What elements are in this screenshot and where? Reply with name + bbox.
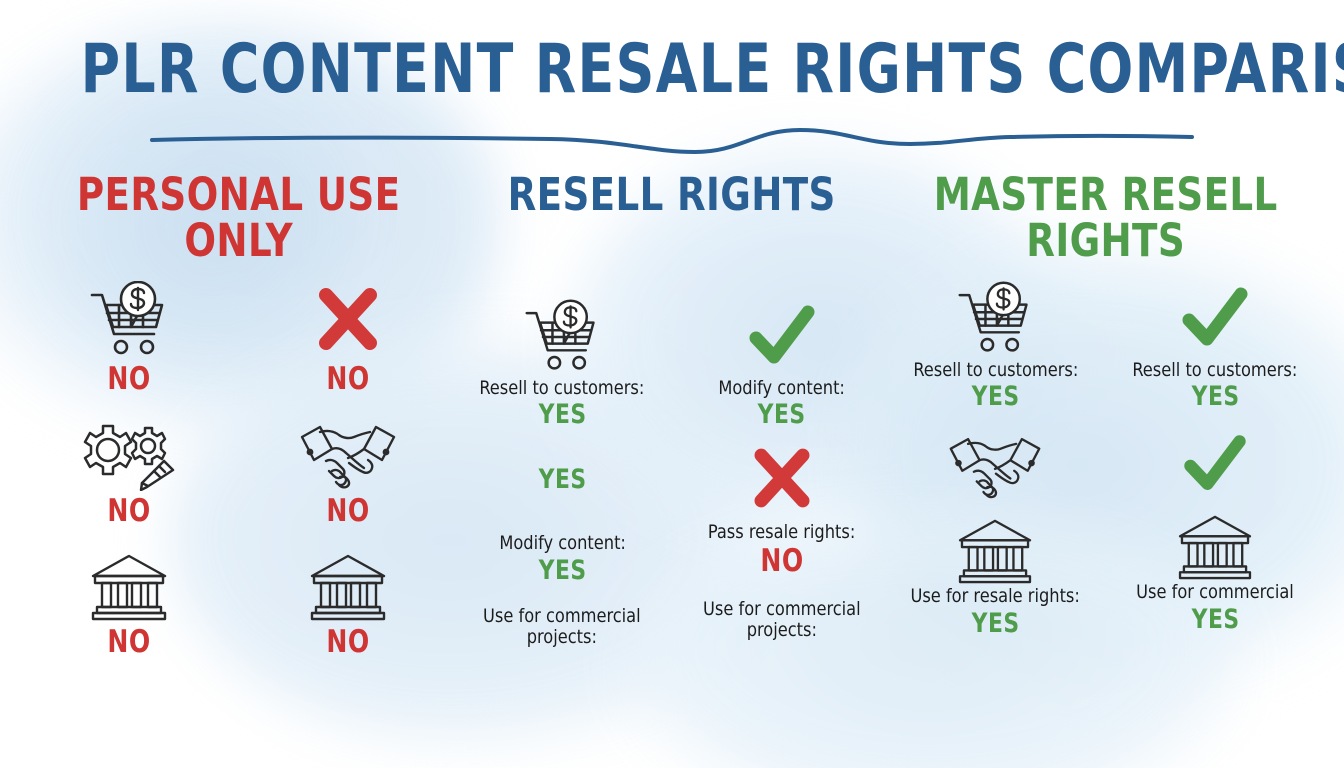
verdict-2-3: YES — [538, 555, 586, 586]
green-check-icon — [744, 294, 820, 378]
label-2-1: Resell to customers: — [476, 378, 649, 399]
cell-check-modify: Modify content: YES — [675, 294, 889, 430]
header: PLR CONTENT RESALE RIGHTS COMPARISON — [0, 0, 1344, 156]
verdict-2-6: NO — [760, 544, 803, 580]
column-2-right: Modify content: YES — [675, 276, 889, 648]
column-1-grid: NO — [22, 276, 455, 661]
comparison-columns: PERSONAL USE ONLY — [0, 172, 1344, 661]
column-2-left: Resell to customers: YES YES Modify cont… — [455, 276, 669, 648]
verdict-3-3: YES — [972, 608, 1020, 639]
verdict-2-2: YES — [538, 464, 586, 495]
verdict-3-1: YES — [972, 381, 1020, 412]
label-3-6: Use for commercial — [1133, 582, 1298, 603]
cell-bank-no: NO — [22, 547, 236, 661]
column-heading-master-resell-rights: MASTER RESELL RIGHTS — [906, 172, 1305, 268]
column-1-left: NO — [22, 276, 236, 661]
verdict-1-1: NO — [107, 362, 150, 398]
cell-x-no: NO — [242, 276, 456, 398]
wavy-divider-icon — [150, 122, 1194, 156]
cell-check-mrr-2 — [1108, 426, 1322, 502]
column-2-grid: Resell to customers: YES YES Modify cont… — [455, 276, 888, 648]
verdict-2-5: YES — [758, 399, 806, 430]
shopping-cart-dollar-icon — [521, 294, 603, 378]
red-x-icon — [310, 276, 386, 362]
cell-cart-mrr: Resell to customers: YES — [889, 276, 1103, 412]
cell-bank-commercial-yes: Use for commercial YES — [1108, 510, 1322, 634]
label-3-3: Use for resale rights: — [907, 586, 1084, 607]
cell-handshake-no: NO — [242, 416, 456, 530]
shopping-cart-dollar-icon — [954, 276, 1036, 360]
cell-pass-rights-no: Pass resale rights: NO — [675, 522, 889, 579]
red-x-icon — [746, 440, 818, 516]
column-personal-use-only: PERSONAL USE ONLY — [22, 172, 455, 661]
cell-bank-resale-yes: Use for resale rights: YES — [889, 514, 1103, 638]
bank-building-icon — [306, 547, 390, 625]
handshake-icon — [296, 416, 400, 494]
cell-check-mrr-1: Resell to customers: YES — [1108, 276, 1322, 412]
cell-x-2 — [675, 440, 889, 516]
column-master-resell-rights: MASTER RESELL RIGHTS — [889, 172, 1322, 661]
column-1-right: NO — [242, 276, 456, 661]
green-check-icon — [1177, 276, 1253, 360]
label-2-5: Modify content: — [715, 378, 849, 399]
label-2-4: Use for commercial projects: — [461, 606, 664, 649]
shopping-cart-dollar-icon — [86, 276, 172, 362]
cell-cart-resell: Resell to customers: YES — [455, 294, 669, 430]
bank-building-icon — [954, 514, 1036, 586]
column-3-grid: Resell to customers: YES — [889, 276, 1322, 639]
cell-handshake-mrr — [889, 428, 1103, 504]
bank-building-icon — [87, 547, 171, 625]
divider-wrap — [0, 122, 1344, 156]
column-3-right: Resell to customers: YES — [1108, 276, 1322, 639]
column-3-left: Resell to customers: YES — [889, 276, 1103, 639]
column-heading-resell-rights: RESELL RIGHTS — [473, 172, 872, 268]
label-3-1: Resell to customers: — [909, 360, 1082, 381]
cell-commercial-2: Use for commercial projects: — [455, 606, 669, 649]
cell-commercial-2b: Use for commercial projects: — [675, 599, 889, 642]
verdict-1-5: NO — [327, 494, 370, 530]
bank-building-icon — [1174, 510, 1256, 582]
verdict-2-1: YES — [538, 399, 586, 430]
verdict-3-6: YES — [1191, 604, 1239, 635]
page-title: PLR CONTENT RESALE RIGHTS COMPARISON — [81, 36, 1264, 104]
green-check-icon — [1179, 426, 1251, 502]
verdict-1-6: NO — [327, 625, 370, 661]
label-3-4: Resell to customers: — [1129, 360, 1302, 381]
verdict-3-4: YES — [1191, 381, 1239, 412]
label-2-6: Pass resale rights: — [704, 522, 859, 543]
verdict-1-2: NO — [107, 494, 150, 530]
label-2-3: Modify content: — [495, 533, 629, 554]
handshake-icon — [945, 428, 1045, 504]
cell-bank2-no: NO — [242, 547, 456, 661]
cell-yes-2: YES — [455, 464, 669, 495]
column-heading-personal-use-only: PERSONAL USE ONLY — [39, 172, 438, 268]
verdict-1-3: NO — [107, 625, 150, 661]
column-resell-rights: RESELL RIGHTS — [455, 172, 888, 661]
cell-modify-yes: Modify content: YES — [455, 533, 669, 585]
verdict-1-4: NO — [327, 362, 370, 398]
cell-gears-no: NO — [22, 416, 236, 530]
label-2-7: Use for commercial projects: — [680, 599, 883, 642]
cell-cart-no: NO — [22, 276, 236, 398]
infographic-root: PLR CONTENT RESALE RIGHTS COMPARISON PER… — [0, 0, 1344, 768]
gears-pencil-icon — [80, 416, 178, 494]
